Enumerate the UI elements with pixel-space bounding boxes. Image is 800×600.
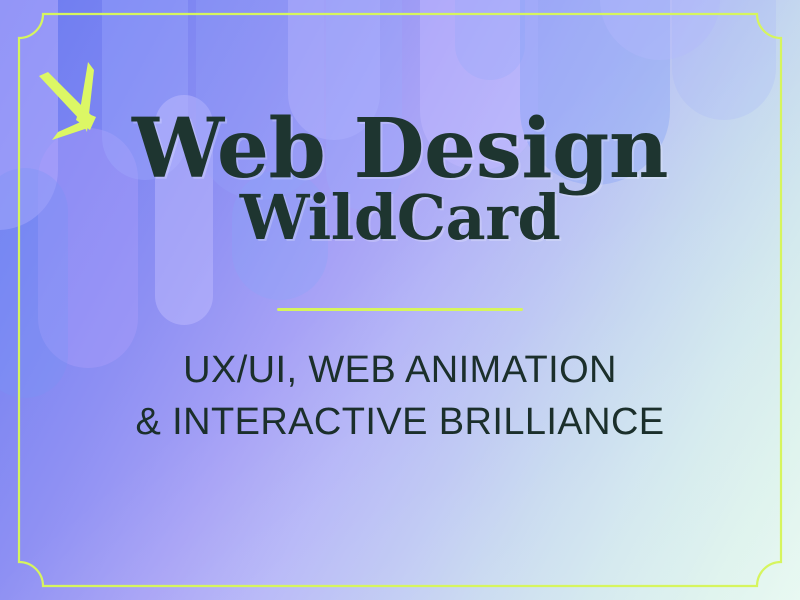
divider-rule (277, 308, 523, 311)
poster-canvas: Web Design WildCard UX/UI, WEB ANIMATION… (0, 0, 800, 600)
title-block: Web Design WildCard (132, 112, 668, 246)
subtitle-line-2: & INTERACTIVE BRILLIANCE (135, 397, 664, 448)
subtitle-line-1: UX/UI, WEB ANIMATION (135, 345, 664, 396)
page-title-primary: Web Design (132, 112, 668, 187)
poster-content: Web Design WildCard UX/UI, WEB ANIMATION… (0, 0, 800, 600)
page-title-secondary: WildCard (132, 189, 668, 246)
subtitle-block: UX/UI, WEB ANIMATION & INTERACTIVE BRILL… (135, 345, 664, 448)
